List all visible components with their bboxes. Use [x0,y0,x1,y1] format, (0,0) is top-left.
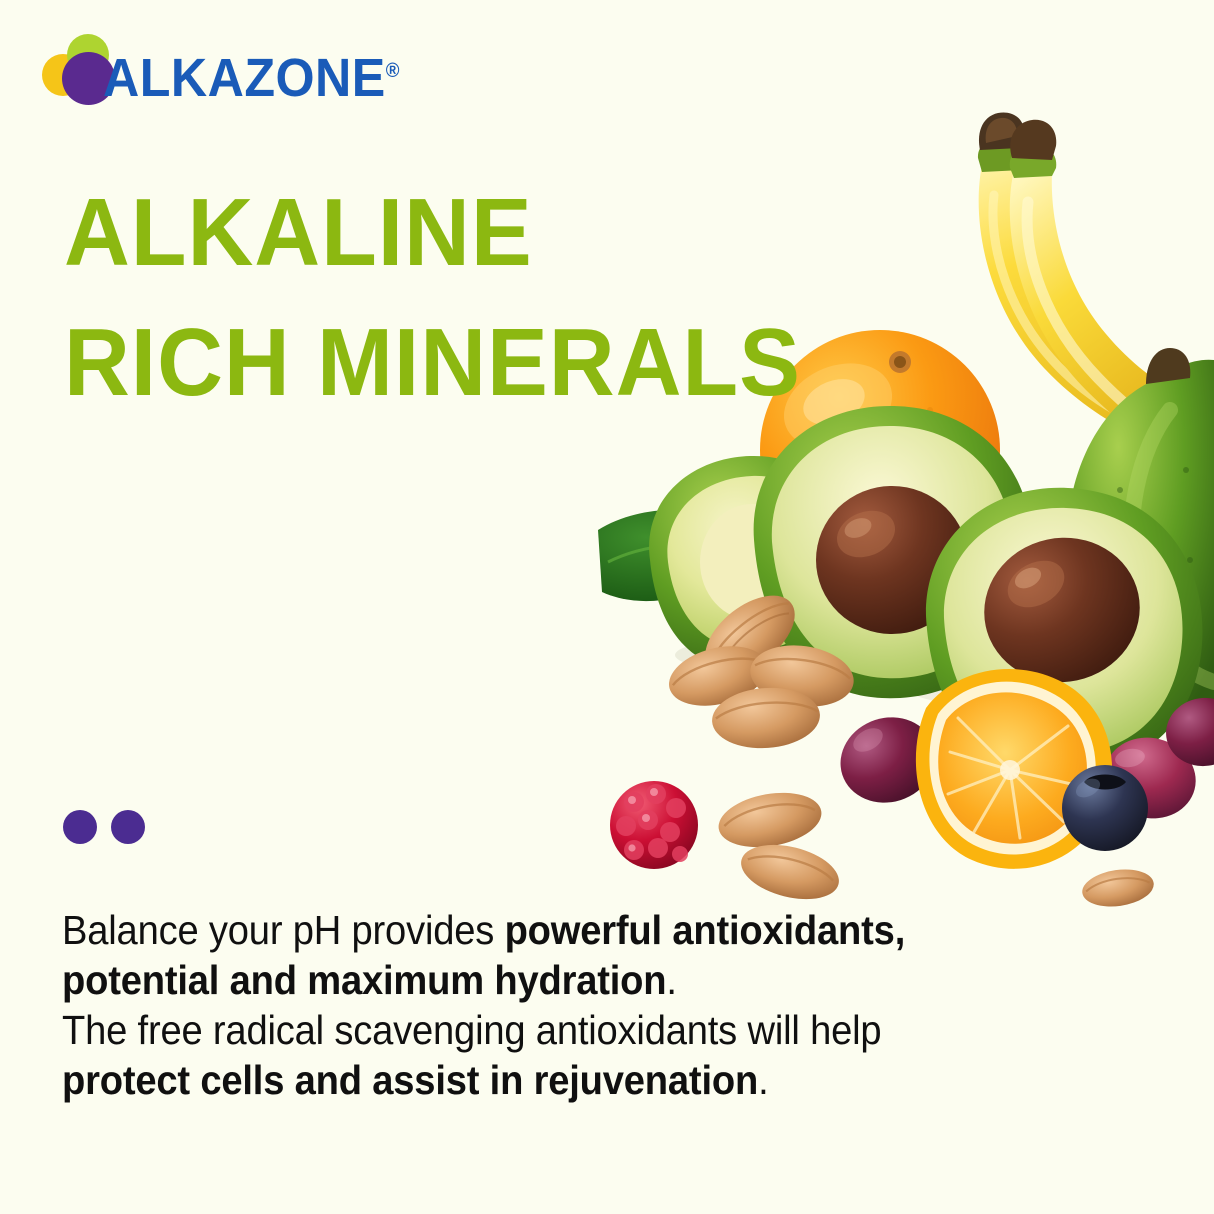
green-leaf-shape [598,510,758,601]
body-copy: Balance your pH provides powerful antiox… [62,905,1142,1105]
almond-scatter-3-shape [1080,865,1156,911]
avocado-whole-shape [1067,348,1214,708]
brand-wordmark: ALKAZONE® [103,51,399,105]
raspberry-shape [610,781,698,869]
body-copy-line-3-plain: The free radical scavenging antioxidants… [62,1007,881,1053]
headline-line-2: RICH MINERALS [64,298,843,428]
decorative-dots [63,810,145,844]
grape-dark-shape [829,705,946,815]
decorative-dot-1-icon [63,810,97,844]
banana-front-shape [1010,120,1214,480]
headline-line-1: ALKALINE [64,168,843,298]
body-copy-line-1-plain: Balance your pH provides [62,907,505,953]
orange-wedge-shape [916,669,1112,869]
brand-name-text: ALKAZONE [103,48,386,108]
body-copy-line-3: The free radical scavenging antioxidants… [62,1005,1066,1055]
avocado-half-right-shape [926,488,1203,772]
blueberry-shape [1062,764,1148,851]
page-title: ALKALINE RICH MINERALS [64,168,884,428]
grape-red-2-shape [1162,693,1214,771]
poster-canvas: ALKAZONE® [0,0,1214,1214]
banana-back-shape [978,112,1214,462]
decorative-dot-2-icon [111,810,145,844]
body-copy-line-4-bold: protect cells and assist in rejuvenation [62,1057,758,1103]
brand-logo[interactable]: ALKAZONE® [40,28,440,108]
avocado-half-left-shape [649,456,854,670]
body-copy-line-4: protect cells and assist in rejuvenation… [62,1055,1066,1105]
body-copy-line-4-plain: . [758,1057,768,1103]
body-copy-line-2-plain: . [666,957,676,1003]
body-copy-line-2: potential and maximum hydration. [62,955,1066,1005]
almond-scatter-2-shape [735,836,844,909]
avocado-half-center-shape [754,406,1033,698]
body-copy-line-2-bold: potential and maximum hydration [62,957,666,1003]
body-copy-line-1-bold: powerful antioxidants, [505,907,906,953]
body-copy-line-1: Balance your pH provides powerful antiox… [62,905,1066,955]
registered-trademark-icon: ® [386,60,400,82]
almond-cluster-shape [663,580,858,752]
grape-red-shape [1096,728,1205,828]
almond-scatter-1-shape [714,785,825,854]
